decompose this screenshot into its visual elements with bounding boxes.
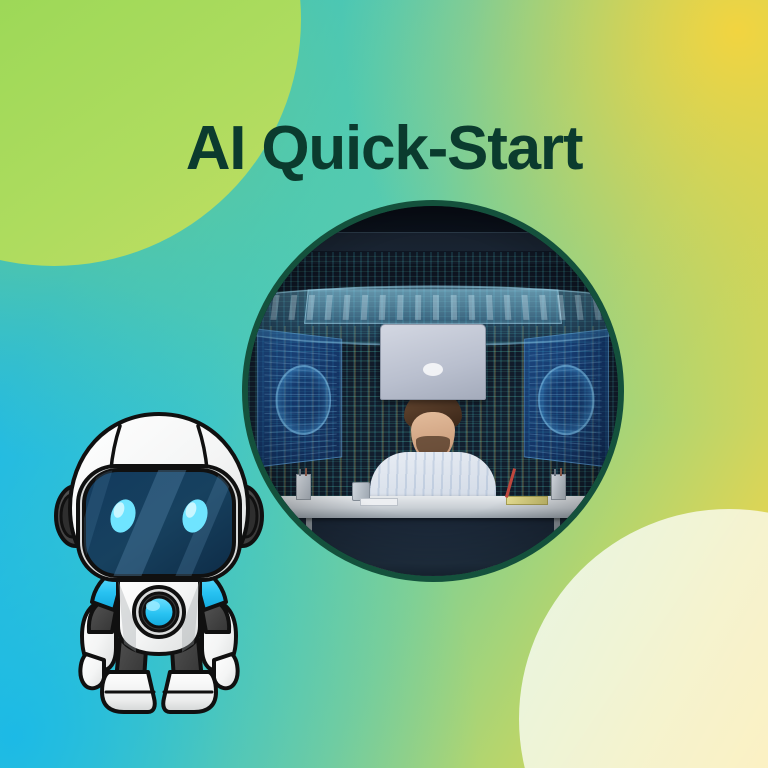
hero-photo-image [248, 206, 618, 576]
photo-desk-leg-right [554, 518, 560, 576]
right-boot [163, 672, 216, 712]
photo-under-desk-shadow [248, 518, 618, 576]
photo-papers [360, 498, 398, 506]
right-hand [214, 654, 238, 688]
photo-pen-cup-right [551, 474, 566, 500]
hero-photo-circle [242, 200, 624, 582]
photo-right-hologram-panel [524, 328, 609, 467]
robot-mascot [44, 404, 274, 728]
photo-notebook [506, 496, 548, 505]
photo-desk-leg-left [306, 518, 312, 576]
chest-orb [134, 587, 184, 637]
page-title: AI Quick-Start [0, 116, 768, 181]
poster-canvas: AI Quick-Start [0, 0, 768, 768]
left-boot [102, 672, 155, 712]
left-hand [80, 654, 104, 688]
photo-pen-cup-left [296, 474, 311, 500]
photo-laptop [380, 324, 486, 400]
